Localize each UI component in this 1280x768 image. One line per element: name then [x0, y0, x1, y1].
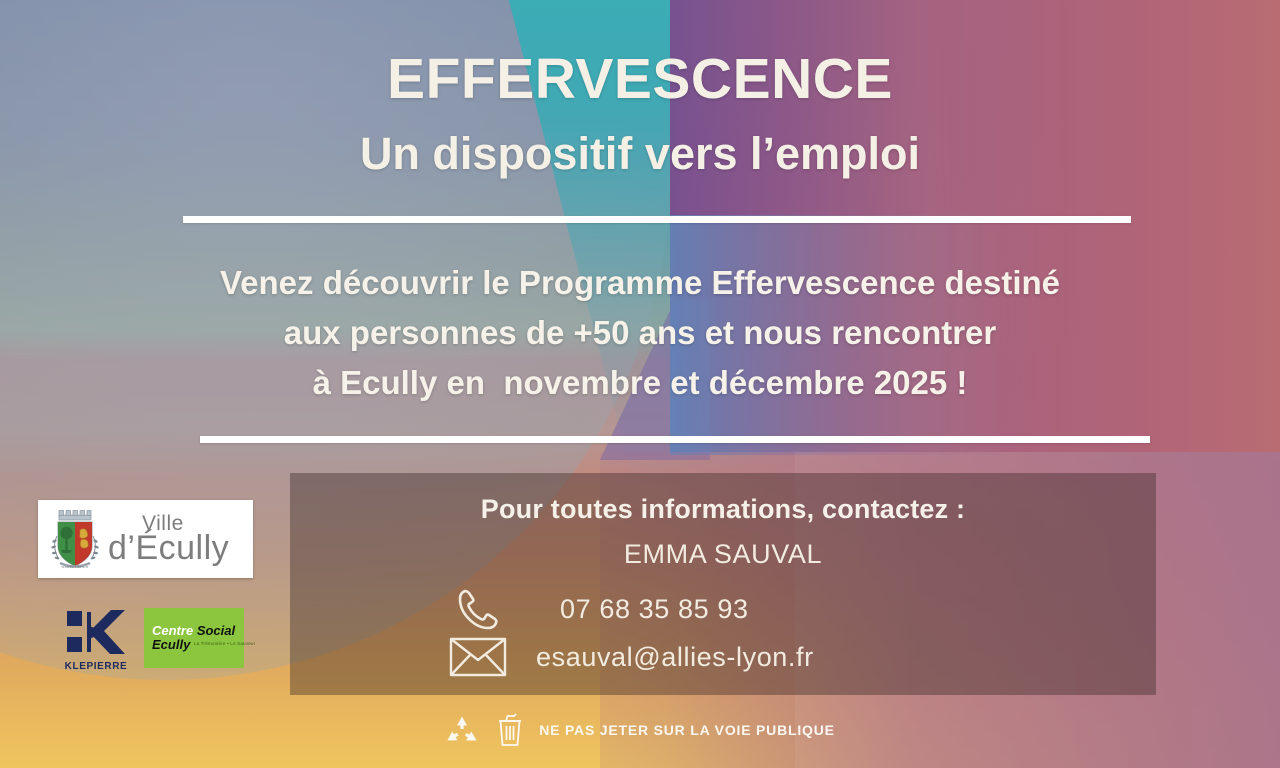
recycle-icon	[445, 715, 479, 745]
contact-phone-row[interactable]: 07 68 35 85 93	[448, 583, 749, 635]
centre-social-word-ecully: Ecully	[152, 637, 190, 652]
logo-klepierre: KLEPIERRE	[60, 608, 132, 672]
divider-top	[183, 216, 1131, 223]
centre-social-line-1: Centre Social	[152, 624, 244, 638]
poster-title: EFFERVESCENCE	[0, 46, 1280, 112]
body-line-2: aux personnes de +50 ans et nous rencont…	[0, 308, 1280, 358]
phone-icon	[448, 583, 508, 635]
centre-social-tagline: La Trémonière • Le Sauveur	[194, 641, 255, 646]
envelope-icon	[448, 636, 508, 678]
klepierre-label: KLEPIERRE	[60, 661, 132, 672]
contact-name: EMMA SAUVAL	[290, 539, 1156, 570]
logo-ville-ecully: SEMPER VIRESCIT Ville d’Écully	[38, 500, 253, 578]
klepierre-k-mark-icon	[65, 608, 127, 658]
contact-heading: Pour toutes informations, contactez :	[290, 494, 1156, 525]
footer-notice: NE PAS JETER SUR LA VOIE PUBLIQUE	[0, 712, 1280, 748]
contact-phone-number: 07 68 35 85 93	[560, 594, 749, 625]
contact-email-address: esauval@allies-lyon.fr	[536, 642, 814, 673]
poster-content: EFFERVESCENCE Un dispositif vers l’emplo…	[0, 0, 1280, 768]
divider-bottom	[200, 436, 1150, 443]
trash-bin-icon	[495, 712, 525, 748]
footer-text: NE PAS JETER SUR LA VOIE PUBLIQUE	[539, 722, 835, 738]
ecully-coat-of-arms-icon: SEMPER VIRESCIT	[44, 506, 106, 572]
contact-email-row[interactable]: esauval@allies-lyon.fr	[448, 636, 814, 678]
contact-panel: Pour toutes informations, contactez : EM…	[290, 473, 1156, 695]
svg-text:SEMPER VIRESCIT: SEMPER VIRESCIT	[61, 565, 89, 569]
ville-line-2: d’Écully	[108, 531, 229, 565]
body-line-3: à Ecully en novembre et décembre 2025 !	[0, 358, 1280, 408]
poster-canvas: EFFERVESCENCE Un dispositif vers l’emplo…	[0, 0, 1280, 768]
secondary-logos: KLEPIERRE Centre Social Ecully La Trémon…	[38, 608, 258, 672]
logo-centre-social-ecully: Centre Social Ecully La Trémonière • Le …	[144, 608, 244, 668]
body-line-1: Venez découvrir le Programme Effervescen…	[0, 258, 1280, 308]
centre-social-word-social: Social	[197, 623, 235, 638]
ville-ecully-wordmark: Ville d’Écully	[108, 513, 229, 565]
partner-logos: SEMPER VIRESCIT Ville d’Écully	[38, 500, 258, 672]
poster-body: Venez découvrir le Programme Effervescen…	[0, 258, 1280, 408]
poster-subtitle: Un dispositif vers l’emploi	[0, 128, 1280, 180]
